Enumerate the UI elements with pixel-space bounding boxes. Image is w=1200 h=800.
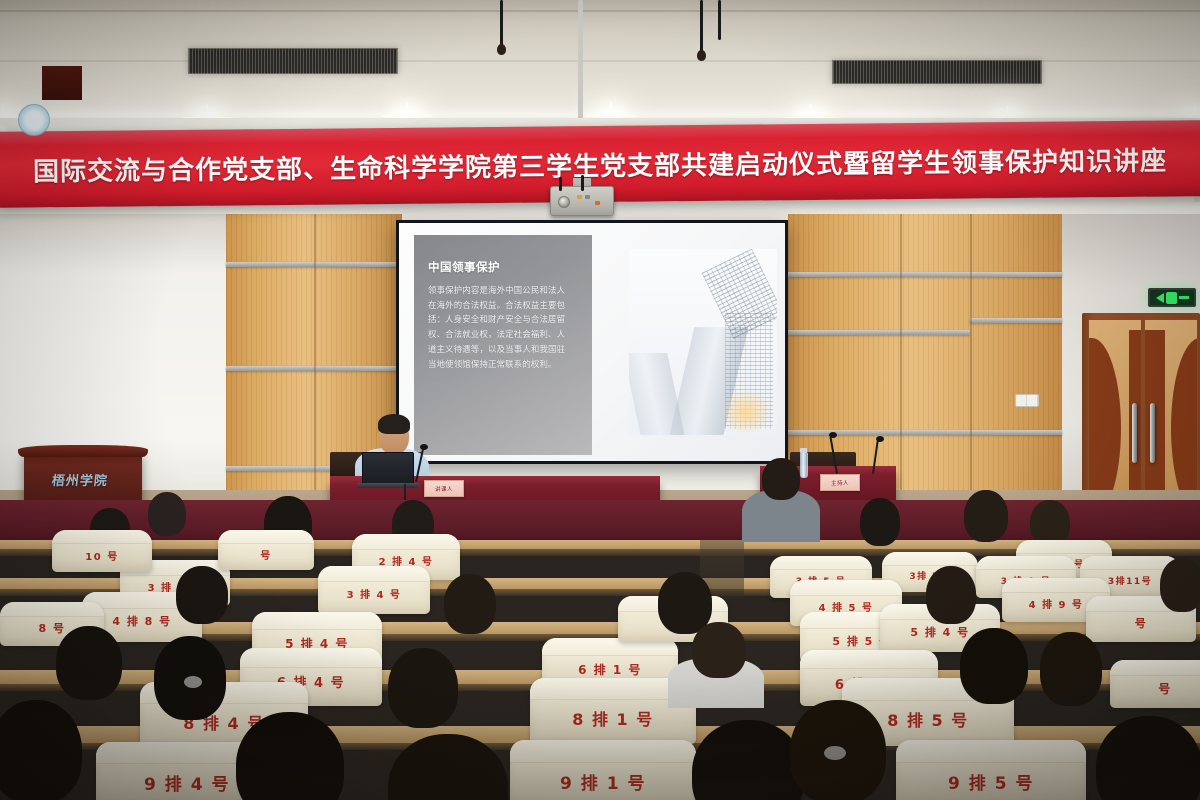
slide-text-panel: 中国领事保护 领事保护内容是海外中国公民和法人在海外的合法权益。合法权益主要包括…: [414, 235, 592, 455]
slide-photo-glow: [721, 389, 771, 435]
door-handle-left[interactable]: [1132, 403, 1137, 463]
seat-label: 9 排 1 号: [510, 769, 696, 794]
projection-screen: 中国领事保护 领事保护内容是海外中国公民和法人在海外的合法权益。合法权益主要包括…: [396, 220, 788, 464]
banner-title: 国际交流与合作党支部、生命科学学院第三学生党支部共建启动仪式暨留学生领事保护知识…: [33, 140, 1167, 188]
auditorium-seat[interactable]: 9 排 1 号: [510, 740, 696, 800]
seat-cover-top: [352, 534, 460, 550]
seat-cover-top: [318, 566, 430, 582]
audience-head: [148, 492, 186, 536]
audience-head: [1096, 716, 1200, 800]
projector-cable: [559, 177, 562, 191]
audience-head: [960, 628, 1028, 704]
speaker-namecard: 讲课人: [424, 480, 464, 497]
microphone-head-icon: [420, 444, 428, 450]
audience-head: [964, 490, 1008, 542]
panel-rail: [970, 318, 1062, 323]
light-switch-panel[interactable]: [1015, 394, 1039, 407]
ceiling: [0, 0, 1200, 118]
air-vent-left: [188, 48, 398, 74]
seat-cover-top: [790, 580, 902, 596]
seat-label: 3 排 4 号: [318, 586, 430, 601]
water-bottle-cap: [800, 448, 807, 453]
exit-arrow-icon: [1156, 293, 1164, 303]
hanging-cable: [718, 0, 721, 40]
slide-body: 领事保护内容是海外中国公民和法人在海外的合法权益。合法权益主要包括：人身安全和财…: [428, 283, 571, 371]
podium-emblem: [18, 104, 50, 136]
exit-sign-icon: [1148, 288, 1196, 307]
seat-label: 6 排 1 号: [542, 661, 678, 678]
projector-lens-icon: [558, 196, 570, 208]
panel-groove: [900, 214, 902, 514]
audience-head: [1160, 558, 1200, 612]
audience-head: [926, 566, 976, 624]
audience-head: [444, 574, 496, 634]
ceiling-seam: [0, 10, 1200, 12]
slide-title: 中国领事保护: [428, 259, 578, 275]
seat-cover-top: [882, 552, 978, 566]
seat-cover-top: [1016, 540, 1112, 554]
seat-cover-top: [976, 556, 1076, 570]
laptop-base: [357, 483, 419, 488]
auditorium-seat[interactable]: 号: [218, 530, 314, 570]
audience-head: [0, 700, 82, 800]
seat-label: 9 排 5 号: [896, 769, 1086, 794]
podium-top: [18, 445, 148, 457]
auditorium-seat[interactable]: 10 号: [52, 530, 152, 572]
microphone-head-icon: [829, 432, 837, 438]
audience-head: [762, 458, 800, 500]
speaker-hair: [378, 414, 410, 434]
projector-led: [577, 195, 582, 199]
audience-head: [56, 626, 122, 700]
host-namecard: 主持人: [820, 474, 860, 491]
podium-stem: [42, 66, 82, 100]
lecture-hall-scene: 国际交流与合作党支部、生命科学学院第三学生党支部共建启动仪式暨留学生领事保护知识…: [0, 0, 1200, 800]
seat-cover-top: [240, 648, 382, 668]
audience-head: [692, 622, 746, 678]
seat-cover-top: [1002, 578, 1110, 593]
exit-door-icon: [1179, 296, 1189, 299]
projector-cable: [581, 175, 584, 191]
seat-cover-top: [1110, 660, 1200, 676]
projector-icon: [550, 186, 614, 216]
slide-photo: [629, 249, 777, 435]
water-bottle-icon: [800, 452, 808, 478]
cable-knob: [697, 50, 706, 61]
seat-cover-top: [770, 556, 872, 570]
seat-cover-top: [0, 602, 104, 617]
audience-head: [860, 498, 900, 546]
projector-led: [595, 201, 600, 205]
microphone-head-icon: [876, 436, 884, 442]
auditorium-seat[interactable]: 9 排 5 号: [896, 740, 1086, 800]
audience-head: [176, 566, 228, 624]
projector-led: [585, 195, 590, 199]
auditorium-seat[interactable]: 号: [1110, 660, 1200, 708]
seat-cover-top: [510, 740, 696, 763]
seat-cover-top: [252, 612, 382, 630]
panel-rail: [788, 330, 970, 335]
auditorium-seat[interactable]: 3 排 4 号: [318, 566, 430, 614]
seat-label: 号: [1086, 615, 1196, 631]
seat-cover-top: [896, 740, 1086, 763]
cable-knob: [497, 44, 506, 55]
seat-label: 8 排 1 号: [530, 706, 696, 730]
hair-tie: [824, 746, 846, 760]
seat-label: 号: [1110, 680, 1200, 697]
slide-surface: 中国领事保护 领事保护内容是海外中国公民和法人在海外的合法权益。合法权益主要包括…: [399, 223, 785, 461]
seat-cover-top: [218, 530, 314, 544]
door-handle-right[interactable]: [1150, 403, 1155, 463]
hanging-cable: [500, 0, 503, 46]
air-vent-right: [832, 60, 1042, 84]
seat-label: 10 号: [52, 548, 152, 563]
laptop-icon[interactable]: [362, 452, 414, 484]
hanging-cable: [700, 0, 703, 52]
audience-head: [388, 648, 458, 728]
panel-groove: [970, 214, 972, 514]
audience-head: [1040, 632, 1102, 706]
panel-groove: [314, 214, 316, 514]
exit-person-icon: [1166, 292, 1177, 304]
podium-institution-text: 梧州学院: [51, 470, 109, 489]
seat-cover-top: [52, 530, 152, 544]
seat-label: 号: [218, 547, 314, 562]
panel-rail: [788, 272, 1062, 277]
seat-cover-top: [800, 650, 938, 669]
hair-tie: [184, 676, 202, 688]
